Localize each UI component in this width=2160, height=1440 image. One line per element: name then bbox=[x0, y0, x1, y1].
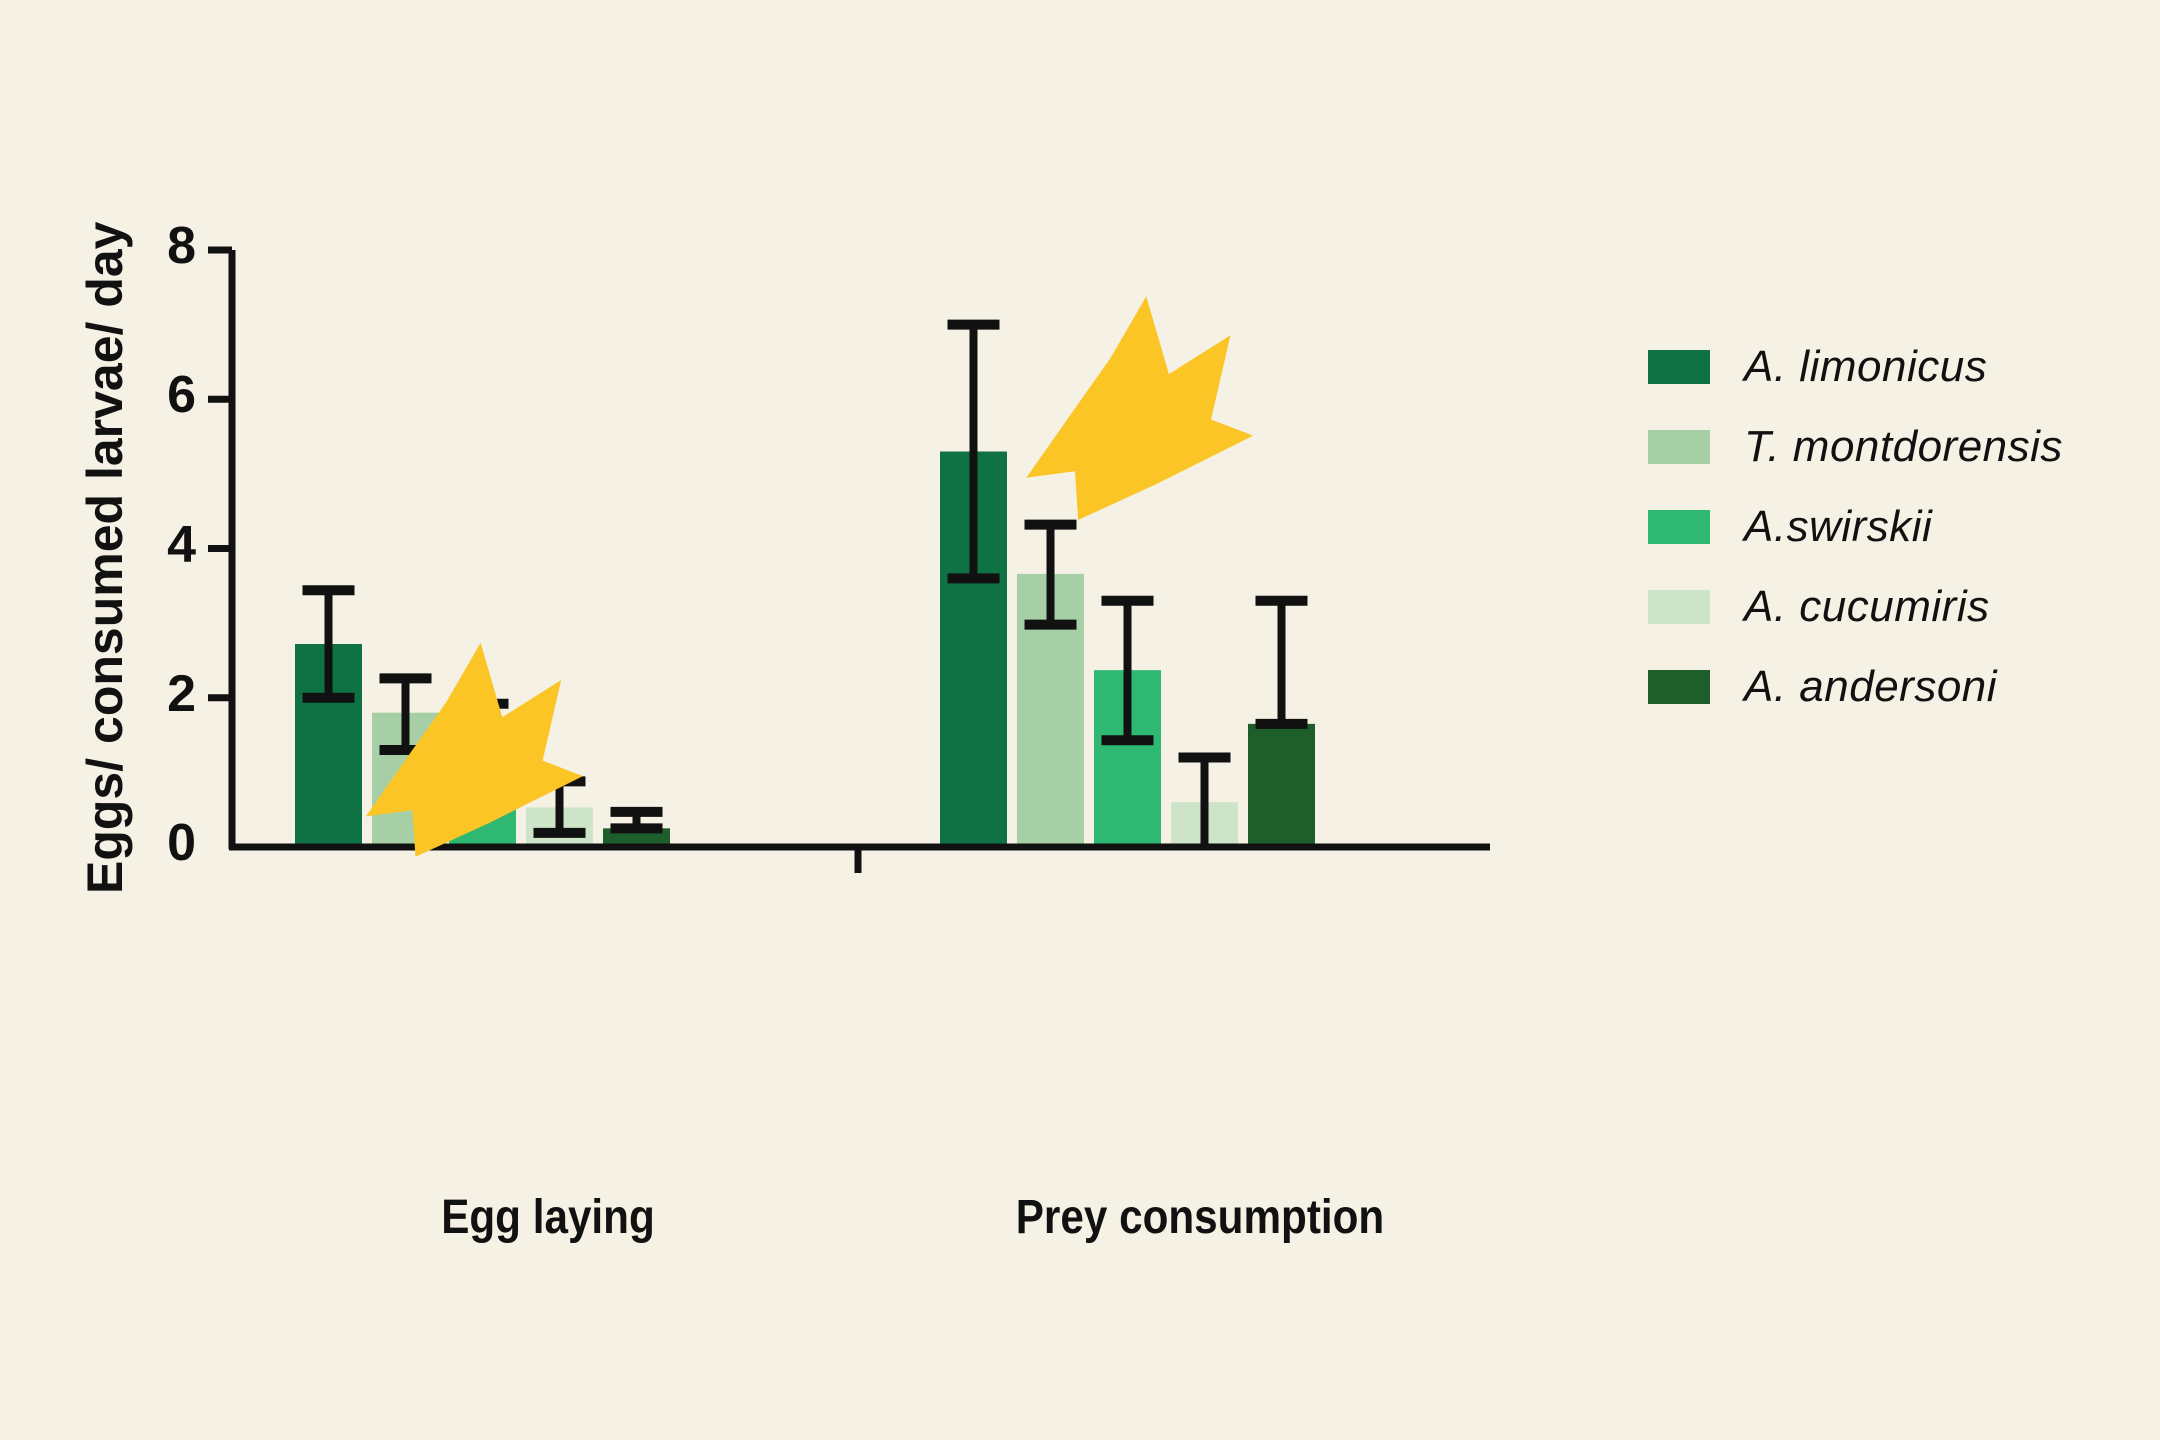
legend-item-0[interactable]: A. limonicus bbox=[1648, 338, 2128, 396]
legend-item-1[interactable]: T. montdorensis bbox=[1648, 418, 2128, 476]
legend-item-4[interactable]: A. andersoni bbox=[1648, 658, 2128, 716]
chart-figure: 02468 Eggs/ consumed larvae/ day Egg lay… bbox=[0, 0, 2160, 1440]
legend-swatch-icon bbox=[1648, 510, 1710, 544]
legend-swatch-icon bbox=[1648, 590, 1710, 624]
y-axis-title: Eggs/ consumed larvae/ day bbox=[76, 274, 134, 894]
y-axis-tick-label-4: 4 bbox=[136, 515, 196, 575]
legend-item-label: A. cucumiris bbox=[1744, 582, 1990, 632]
legend: A. limonicusT. montdorensisA.swirskiiA. … bbox=[1648, 338, 2128, 738]
legend-item-label: A. limonicus bbox=[1744, 342, 1987, 392]
x-axis-label-0: Egg laying bbox=[284, 1190, 812, 1245]
yellow-arrow-prey-consumption bbox=[1026, 296, 1253, 520]
legend-item-label: A.swirskii bbox=[1744, 502, 1932, 552]
legend-item-label: T. montdorensis bbox=[1744, 422, 2063, 472]
x-axis-label-1: Prey consumption bbox=[936, 1190, 1464, 1245]
bar-aandersoni-1 bbox=[1248, 724, 1315, 847]
y-axis-tick-label-8: 8 bbox=[136, 216, 196, 276]
legend-swatch-icon bbox=[1648, 350, 1710, 384]
y-axis-tick-label-2: 2 bbox=[136, 664, 196, 724]
legend-item-2[interactable]: A.swirskii bbox=[1648, 498, 2128, 556]
legend-swatch-icon bbox=[1648, 670, 1710, 704]
error-bar-4-1 bbox=[1256, 601, 1308, 724]
error-bar-4-0 bbox=[611, 812, 663, 828]
y-axis-tick-label-0: 0 bbox=[136, 813, 196, 873]
legend-item-label: A. andersoni bbox=[1744, 662, 1997, 712]
legend-item-3[interactable]: A. cucumiris bbox=[1648, 578, 2128, 636]
y-axis-tick-label-6: 6 bbox=[136, 365, 196, 425]
legend-swatch-icon bbox=[1648, 430, 1710, 464]
